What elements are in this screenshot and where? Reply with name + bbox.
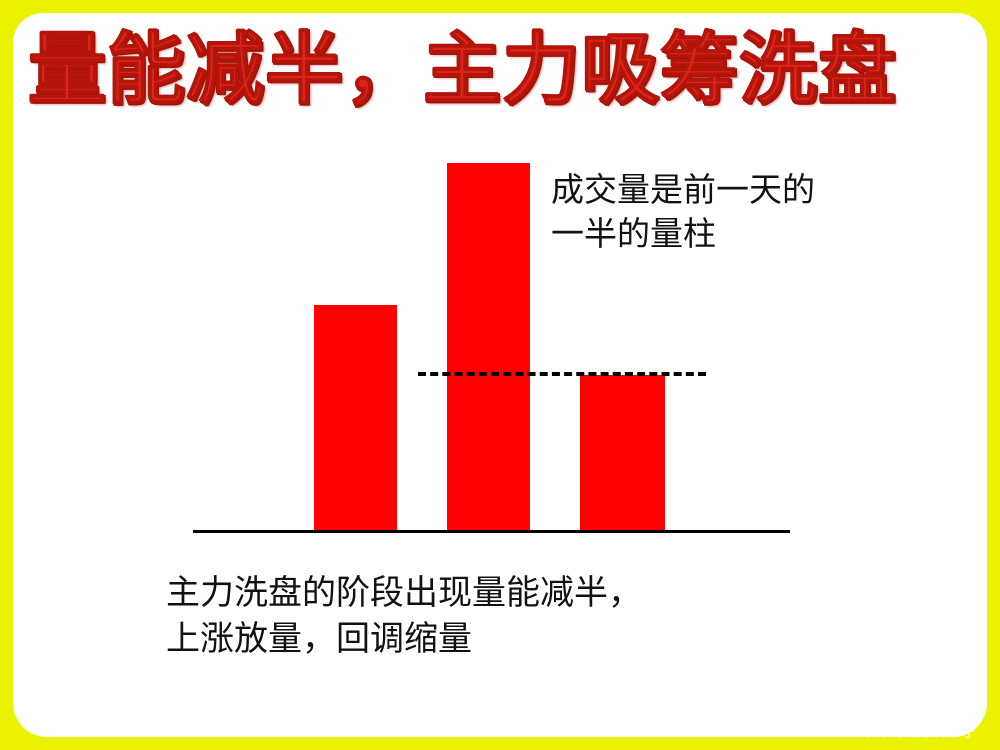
chart-caption-line-2: 上涨放量，回调缩量 (166, 616, 726, 662)
half-volume-annotation-line-2: 一半的量柱 (551, 212, 881, 256)
bar-day-3 (580, 375, 665, 531)
chart-caption-line-1: 主力洗盘的阶段出现量能减半， (166, 570, 726, 616)
half-volume-annotation: 成交量是前一天的 一半的量柱 (551, 168, 881, 256)
half-volume-annotation-line-1: 成交量是前一天的 (551, 168, 881, 212)
bar-day-1 (314, 305, 397, 531)
poster-canvas: 量能减半，主力吸筹洗盘 成交量是前一天的 一半的量柱 主力洗盘的阶段出现量能减半… (0, 0, 1000, 750)
chart-baseline-axis (193, 530, 790, 533)
half-volume-reference-line (418, 372, 706, 376)
chart-caption: 主力洗盘的阶段出现量能减半， 上涨放量，回调缩量 (166, 570, 726, 662)
bar-day-2 (447, 163, 530, 531)
